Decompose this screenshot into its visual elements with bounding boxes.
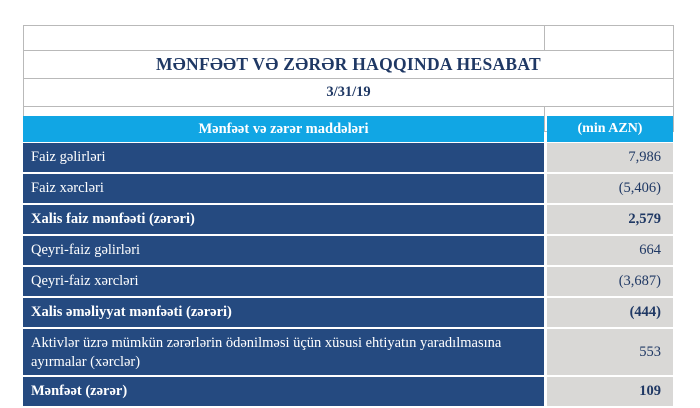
row-label: Faiz xərcləri bbox=[23, 174, 544, 203]
statement-rows: Faiz gəlirləri7,986Faiz xərcləri(5,406)X… bbox=[23, 143, 673, 408]
row-value: (3,687) bbox=[547, 267, 673, 296]
table-row: Qeyri-faiz xərcləri(3,687) bbox=[23, 267, 673, 296]
row-label: Aktivlər üzrə mümkün zərərlərin ödənilmə… bbox=[23, 329, 544, 375]
spacer-cell-right bbox=[545, 26, 674, 51]
row-value: 664 bbox=[547, 236, 673, 265]
row-label: Xalis əməliyyat mənfəəti (zərəri) bbox=[23, 298, 544, 327]
row-value: 553 bbox=[547, 329, 673, 375]
column-header-label: Mənfəət və zərər maddələri bbox=[23, 116, 544, 142]
row-value: (444) bbox=[547, 298, 673, 327]
page-title: MƏNFƏƏT VƏ ZƏRƏR HAQQINDA HESABAT bbox=[24, 51, 674, 79]
table-row: Faiz xərcləri(5,406) bbox=[23, 174, 673, 203]
table-row: Mənfəət (zərər)109 bbox=[23, 377, 673, 406]
title-row: MƏNFƏƏT VƏ ZƏRƏR HAQQINDA HESABAT bbox=[24, 51, 674, 79]
column-header-band: Mənfəət və zərər maddələri (min AZN) bbox=[23, 116, 673, 142]
row-value: 2,579 bbox=[547, 205, 673, 234]
row-value: (5,406) bbox=[547, 174, 673, 203]
table-row: Xalis əməliyyat mənfəəti (zərəri)(444) bbox=[23, 298, 673, 327]
spacer-row-top bbox=[24, 26, 674, 51]
table-row: Aktivlər üzrə mümkün zərərlərin ödənilmə… bbox=[23, 329, 673, 375]
income-statement-sheet: MƏNFƏƏT VƏ ZƏRƏR HAQQINDA HESABAT 3/31/1… bbox=[0, 0, 700, 407]
row-label: Xalis faiz mənfəəti (zərəri) bbox=[23, 205, 544, 234]
spacer-cell-left bbox=[24, 26, 545, 51]
report-date: 3/31/19 bbox=[24, 79, 674, 107]
date-row: 3/31/19 bbox=[24, 79, 674, 107]
table-row: Xalis faiz mənfəəti (zərəri)2,579 bbox=[23, 205, 673, 234]
row-label: Faiz gəlirləri bbox=[23, 143, 544, 172]
column-header-value: (min AZN) bbox=[547, 116, 673, 142]
row-value: 109 bbox=[547, 377, 673, 406]
table-row: Qeyri-faiz gəlirləri664 bbox=[23, 236, 673, 265]
table-row: Faiz gəlirləri7,986 bbox=[23, 143, 673, 172]
row-label: Qeyri-faiz gəlirləri bbox=[23, 236, 544, 265]
row-value: 7,986 bbox=[547, 143, 673, 172]
row-label: Qeyri-faiz xərcləri bbox=[23, 267, 544, 296]
row-label: Mənfəət (zərər) bbox=[23, 377, 544, 406]
